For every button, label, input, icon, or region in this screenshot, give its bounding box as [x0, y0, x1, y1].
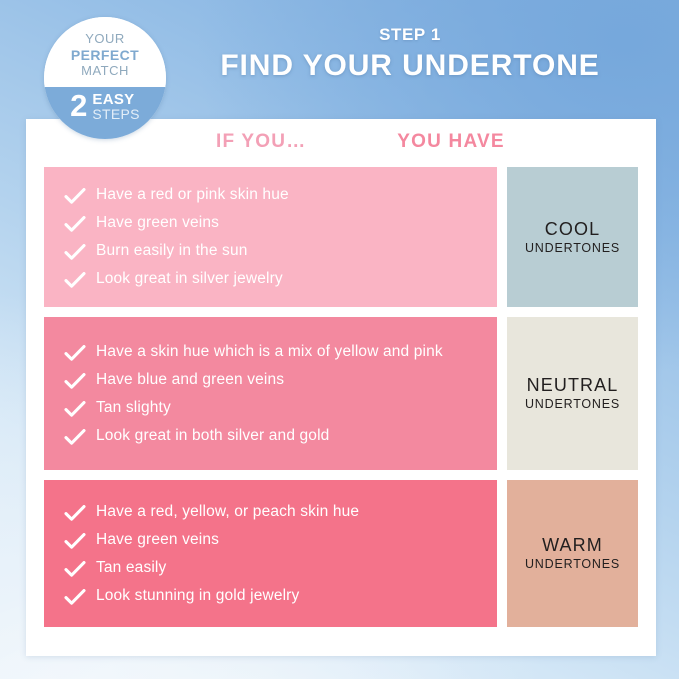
undertone-swatch-neutral: NEUTRAL UNDERTONES [507, 317, 638, 470]
check-icon [64, 244, 96, 261]
list-item: Tan slighty [64, 398, 483, 418]
trait-text: Have a red or pink skin hue [96, 185, 289, 205]
table-row: Have a skin hue which is a mix of yellow… [44, 317, 638, 470]
badge-bottom-half: 2 EASY STEPS [44, 87, 166, 139]
swatch-subtitle: UNDERTONES [525, 241, 620, 255]
badge-line-perfect: PERFECT [71, 47, 139, 64]
list-item: Have green veins [64, 530, 483, 550]
swatch-subtitle: UNDERTONES [525, 397, 620, 411]
page-title: FIND YOUR UNDERTONE [160, 49, 660, 84]
trait-text: Burn easily in the sun [96, 241, 248, 261]
check-icon [64, 505, 96, 522]
check-icon [64, 345, 96, 362]
list-item: Tan easily [64, 558, 483, 578]
check-icon [64, 401, 96, 418]
badge-step-count: 2 [70, 91, 87, 120]
list-item: Have a red, yellow, or peach skin hue [64, 502, 483, 522]
list-item: Look stunning in gold jewelry [64, 586, 483, 606]
check-icon [64, 561, 96, 578]
perfect-match-badge: YOUR PERFECT MATCH 2 EASY STEPS [44, 17, 166, 139]
trait-text: Look stunning in gold jewelry [96, 586, 299, 606]
check-icon [64, 429, 96, 446]
trait-list: Have a red or pink skin hue Have green v… [44, 167, 497, 307]
trait-text: Look great in both silver and gold [96, 426, 329, 446]
undertone-infographic: STEP 1 FIND YOUR UNDERTONE YOUR PERFECT … [0, 0, 679, 679]
list-item: Have green veins [64, 213, 483, 233]
trait-list: Have a skin hue which is a mix of yellow… [44, 317, 497, 470]
trait-text: Tan slighty [96, 398, 171, 418]
undertone-swatch-warm: WARM UNDERTONES [507, 480, 638, 627]
badge-step-words: EASY STEPS [92, 91, 139, 121]
trait-text: Look great in silver jewelry [96, 269, 283, 289]
list-item: Have a skin hue which is a mix of yellow… [64, 342, 483, 362]
column-header-if-you: IF YOU… [216, 131, 306, 153]
swatch-title: COOL [545, 219, 600, 240]
undertone-rows: Have a red or pink skin hue Have green v… [44, 167, 638, 627]
trait-text: Have green veins [96, 213, 219, 233]
check-icon [64, 272, 96, 289]
badge-word-steps: STEPS [92, 107, 139, 121]
trait-text: Tan easily [96, 558, 166, 578]
check-icon [64, 533, 96, 550]
swatch-subtitle: UNDERTONES [525, 557, 620, 571]
trait-text: Have green veins [96, 530, 219, 550]
badge-line-match: MATCH [81, 63, 129, 79]
column-header-you-have: YOU HAVE [365, 131, 537, 153]
list-item: Have a red or pink skin hue [64, 185, 483, 205]
list-item: Have blue and green veins [64, 370, 483, 390]
table-row: Have a red or pink skin hue Have green v… [44, 167, 638, 307]
badge-line-your: YOUR [85, 32, 125, 47]
check-icon [64, 188, 96, 205]
trait-text: Have a skin hue which is a mix of yellow… [96, 342, 443, 362]
trait-list: Have a red, yellow, or peach skin hue Ha… [44, 480, 497, 627]
undertone-swatch-cool: COOL UNDERTONES [507, 167, 638, 307]
table-row: Have a red, yellow, or peach skin hue Ha… [44, 480, 638, 627]
step-label: STEP 1 [160, 26, 660, 45]
list-item: Look great in both silver and gold [64, 426, 483, 446]
trait-text: Have blue and green veins [96, 370, 284, 390]
content-card: IF YOU… YOU HAVE Have a red or pink skin… [26, 119, 656, 656]
header: STEP 1 FIND YOUR UNDERTONE [160, 26, 660, 83]
list-item: Burn easily in the sun [64, 241, 483, 261]
swatch-title: WARM [542, 535, 603, 556]
check-icon [64, 589, 96, 606]
swatch-title: NEUTRAL [527, 375, 619, 396]
trait-text: Have a red, yellow, or peach skin hue [96, 502, 359, 522]
check-icon [64, 373, 96, 390]
list-item: Look great in silver jewelry [64, 269, 483, 289]
check-icon [64, 216, 96, 233]
badge-word-easy: EASY [92, 92, 139, 107]
badge-top-half: YOUR PERFECT MATCH [44, 17, 166, 87]
